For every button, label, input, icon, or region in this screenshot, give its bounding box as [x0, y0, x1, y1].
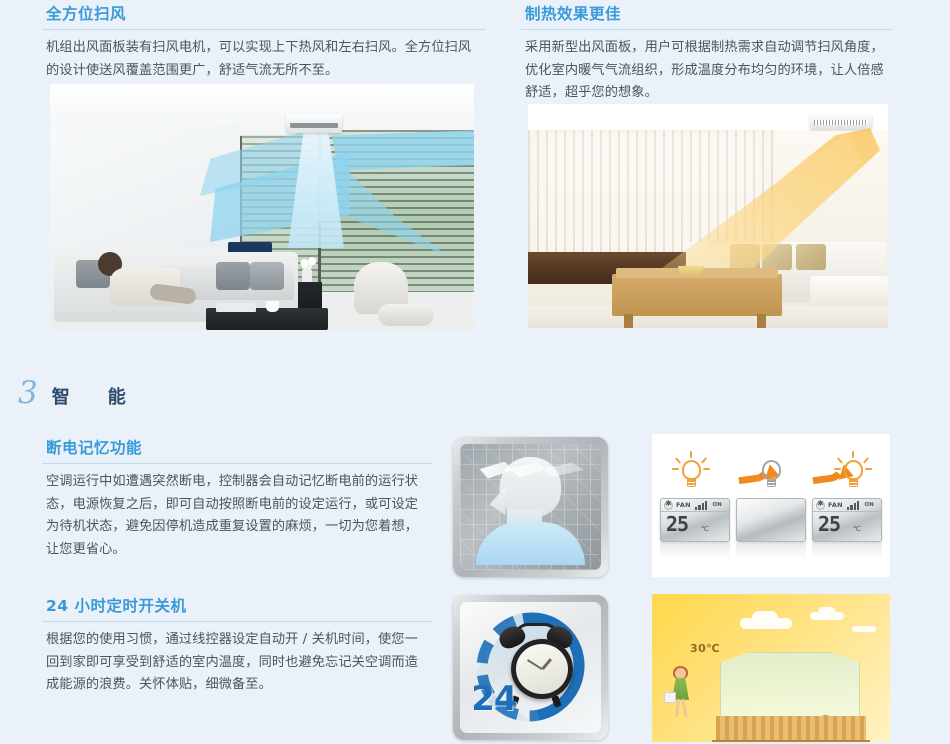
block-title-timer: 24 小时定时开关机 — [42, 592, 432, 621]
feature-body-sweep: 机组出风面板装有扫风电机，可以实现上下热风和左右扫风。全方位扫风的设计使送风覆盖… — [42, 30, 486, 82]
fan-speed-bars-icon — [695, 501, 708, 510]
feature-column-right: 制热效果更佳 采用新型出风面板，用户可根据制热需求自动调节扫风角度，优化室内暖气… — [521, 0, 893, 105]
lcd-temperature-unit: ℃ — [853, 525, 861, 533]
feature-title-sweep: 全方位扫风 — [42, 0, 486, 29]
block-timer: 24 小时定时开关机 根据您的使用习惯，通过线控器设定自动开 / 关机时间，使您… — [42, 592, 432, 697]
block-title-power-memory: 断电记忆功能 — [42, 434, 432, 463]
photo-warm-airflow-room — [528, 104, 888, 328]
snowflake-icon — [664, 501, 673, 510]
lcd-display-after-restore: FAN ON 25 ℃ — [812, 498, 882, 542]
onoff-label: ON — [864, 502, 873, 508]
section-heading: 3 智 能 — [18, 378, 136, 409]
feature-body-heating: 采用新型出风面板，用户可根据制热需求自动调节扫风角度，优化室内暖气气流组织，形成… — [521, 30, 893, 105]
lcd-temperature-unit: ℃ — [701, 525, 709, 533]
bulb-lit-icon — [838, 456, 868, 494]
walking-person-icon — [668, 668, 694, 720]
onoff-label: ON — [712, 502, 721, 508]
fan-label: FAN — [676, 501, 691, 509]
block-body-power-memory: 空调运行中如遭遇突然断电，控制器会自动记忆断电前的运行状态，电源恢复之后，即可自… — [42, 464, 432, 561]
feature-title-heating: 制热效果更佳 — [521, 0, 893, 29]
icon-24h-timer: 24 — [453, 595, 608, 740]
photo-cool-airflow-room — [50, 84, 474, 330]
lcd-temperature: 25 — [818, 512, 840, 536]
lcd-display-before-outage: FAN ON 25 ℃ — [660, 498, 730, 542]
fan-label: FAN — [828, 501, 843, 509]
timer-number: 24 — [471, 679, 516, 719]
section-name: 智 能 — [52, 383, 136, 409]
outdoor-temperature-label: 30℃ — [690, 642, 720, 655]
illustration-preset-cooling: 30℃ — [652, 594, 890, 742]
snowflake-icon — [816, 501, 825, 510]
bulb-unlit-icon — [756, 456, 786, 494]
block-power-memory: 断电记忆功能 空调运行中如遭遇突然断电，控制器会自动记忆断电前的运行状态，电源恢… — [42, 434, 432, 561]
panel-power-memory-sequence: FAN ON 25 ℃ — [652, 434, 890, 577]
ceiling-ac-unit-icon — [286, 114, 342, 133]
clock-face-icon — [511, 639, 573, 699]
section-number: 3 — [18, 378, 38, 409]
feature-column-left: 全方位扫风 机组出风面板装有扫风电机，可以实现上下热风和左右扫风。全方位扫风的设… — [42, 0, 486, 82]
wall-ac-unit-icon — [810, 114, 872, 129]
bulb-lit-icon — [676, 456, 706, 494]
lcd-temperature: 25 — [666, 512, 688, 536]
icon-memory-head — [453, 437, 608, 577]
fan-speed-bars-icon — [847, 501, 860, 510]
lcd-display-during-outage — [736, 498, 806, 542]
block-body-timer: 根据您的使用习惯，通过线控器设定自动开 / 关机时间，使您一回到家即可享受到舒适… — [42, 622, 432, 697]
